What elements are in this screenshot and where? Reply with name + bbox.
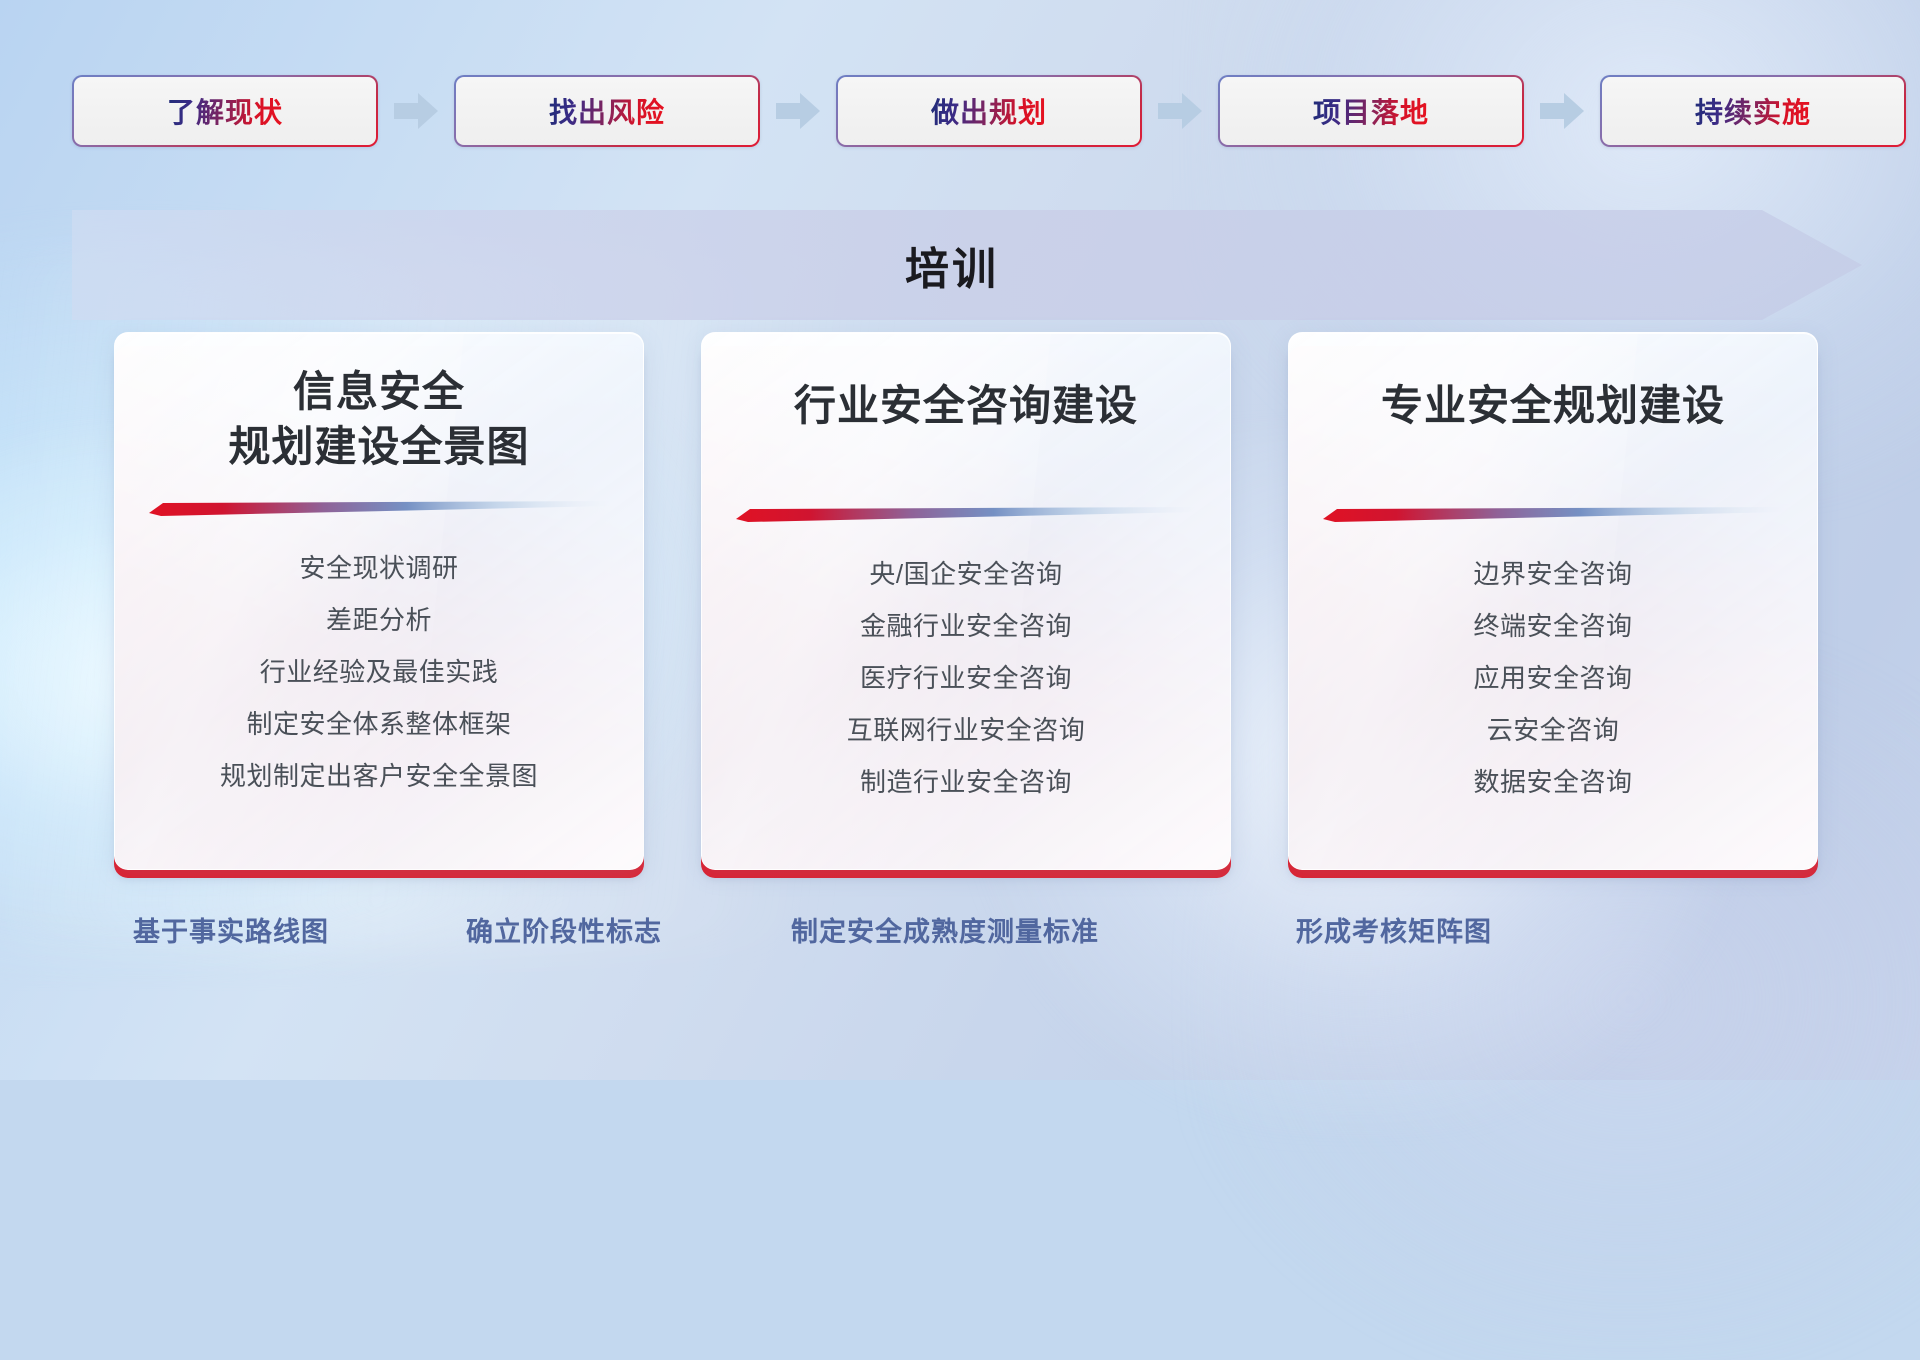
card-3-divider [1323, 506, 1783, 522]
card-1-title-line-2: 规划建设全景图 [228, 420, 529, 475]
process-step-4-inner: 项目落地 [1220, 77, 1522, 145]
process-step-2[interactable]: 找出风险 [454, 75, 760, 147]
list-item: 医疗行业安全咨询 [860, 652, 1072, 704]
training-banner-title: 培训 [72, 210, 1832, 320]
list-item: 互联网行业安全咨询 [847, 704, 1086, 756]
process-step-2-inner: 找出风险 [456, 77, 758, 145]
list-item: 制造行业安全咨询 [860, 756, 1072, 808]
process-step-1[interactable]: 了解现状 [72, 75, 378, 147]
process-step-1-label: 了解现状 [167, 91, 283, 131]
list-item: 数据安全咨询 [1473, 756, 1632, 808]
card-2-title: 行业安全咨询建设 [794, 379, 1138, 434]
process-step-3[interactable]: 做出规划 [836, 75, 1142, 147]
card-1-list: 安全现状调研 差距分析 行业经验及最佳实践 制定安全体系整体框架 规划制定出客户… [115, 542, 643, 802]
outcome-label-1: 基于事实路线图 [133, 910, 329, 949]
list-item: 规划制定出客户安全全景图 [220, 750, 538, 802]
process-step-row: 了解现状 找出风险 做出规划 项目落地 持续实施 [0, 70, 1920, 152]
card-1-body: 信息安全 规划建设全景图 [114, 332, 644, 870]
process-step-4[interactable]: 项目落地 [1218, 75, 1524, 147]
process-step-1-inner: 了解现状 [74, 77, 376, 145]
process-step-5-label: 持续实施 [1695, 91, 1811, 131]
process-step-5[interactable]: 持续实施 [1600, 75, 1906, 147]
card-3-title-line-1: 专业安全规划建设 [1381, 379, 1725, 434]
process-step-5-inner: 持续实施 [1602, 77, 1904, 145]
list-item: 云安全咨询 [1487, 704, 1620, 756]
card-information-security-blueprint[interactable]: 信息安全 规划建设全景图 [114, 332, 644, 878]
list-item: 终端安全咨询 [1473, 600, 1632, 652]
card-row: 信息安全 规划建设全景图 [0, 332, 1920, 892]
card-2-divider [736, 506, 1196, 522]
card-professional-security-planning[interactable]: 专业安全规划建设 [1288, 332, 1818, 878]
card-1-divider [149, 500, 609, 516]
arrow-right-icon [1158, 93, 1202, 129]
training-banner: 培训 [72, 210, 1862, 320]
card-3-list: 边界安全咨询 终端安全咨询 应用安全咨询 云安全咨询 数据安全咨询 [1289, 548, 1817, 808]
card-2-list: 央/国企安全咨询 金融行业安全咨询 医疗行业安全咨询 互联网行业安全咨询 制造行… [702, 548, 1230, 808]
arrow-right-icon [776, 93, 820, 129]
arrow-right-icon [394, 93, 438, 129]
outcome-label-4: 形成考核矩阵图 [1296, 910, 1492, 949]
list-item: 金融行业安全咨询 [860, 600, 1072, 652]
outcome-label-3: 制定安全成熟度测量标准 [791, 910, 1099, 949]
card-3-body: 专业安全规划建设 [1288, 332, 1818, 870]
card-1-title: 信息安全 规划建设全景图 [228, 365, 529, 474]
process-step-2-label: 找出风险 [549, 91, 665, 131]
outcome-label-2: 确立阶段性标志 [466, 910, 662, 949]
list-item: 边界安全咨询 [1473, 548, 1632, 600]
outcome-label-row: 基于事实路线图 确立阶段性标志 制定安全成熟度测量标准 形成考核矩阵图 [0, 910, 1920, 970]
list-item: 制定安全体系整体框架 [246, 698, 511, 750]
arrow-right-icon [1540, 93, 1584, 129]
process-step-4-label: 项目落地 [1313, 91, 1429, 131]
list-item: 安全现状调研 [299, 542, 458, 594]
list-item: 央/国企安全咨询 [869, 548, 1062, 600]
list-item: 行业经验及最佳实践 [260, 646, 499, 698]
card-industry-security-consulting[interactable]: 行业安全咨询建设 [701, 332, 1231, 878]
card-2-title-line-1: 行业安全咨询建设 [794, 379, 1138, 434]
list-item: 应用安全咨询 [1473, 652, 1632, 704]
card-1-title-line-1: 信息安全 [228, 365, 529, 420]
process-step-3-inner: 做出规划 [838, 77, 1140, 145]
process-step-3-label: 做出规划 [931, 91, 1047, 131]
list-item: 差距分析 [326, 594, 432, 646]
card-2-body: 行业安全咨询建设 [701, 332, 1231, 870]
card-3-title: 专业安全规划建设 [1381, 379, 1725, 434]
